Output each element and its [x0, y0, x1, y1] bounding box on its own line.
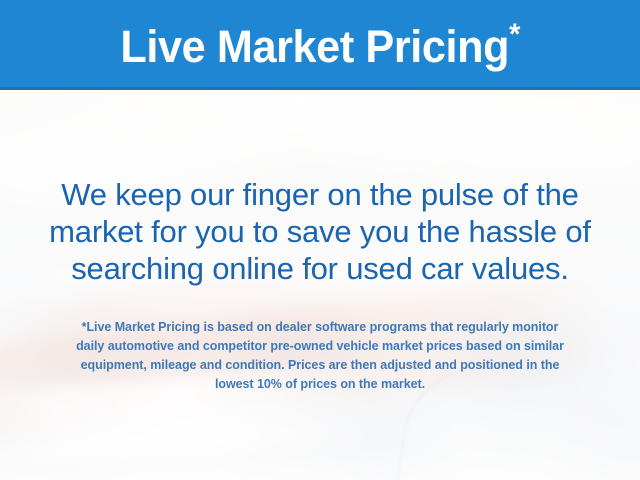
disclaimer-line-3: equipment, mileage and condition. Prices…: [24, 356, 616, 375]
page-title: Live Market Pricing*: [120, 20, 520, 69]
disclaimer-line-4: lowest 10% of prices on the market.: [24, 375, 616, 394]
disclaimer-line-2: daily automotive and competitor pre-owne…: [24, 337, 616, 356]
disclaimer-block: *Live Market Pricing is based on dealer …: [24, 318, 616, 394]
headline-block: We keep our finger on the pulse of the m…: [0, 176, 640, 287]
page-title-footnote-marker: *: [509, 18, 520, 51]
header-banner: Live Market Pricing*: [0, 0, 640, 90]
page-title-text: Live Market Pricing: [120, 21, 509, 72]
headline-line-2: market for you to save you the hassle of: [0, 213, 640, 250]
live-market-pricing-slide: Live Market Pricing* We keep our finger …: [0, 0, 640, 480]
headline-line-1: We keep our finger on the pulse of the: [0, 176, 640, 213]
headline-line-3: searching online for used car values.: [0, 250, 640, 287]
disclaimer-line-1: *Live Market Pricing is based on dealer …: [24, 318, 616, 337]
